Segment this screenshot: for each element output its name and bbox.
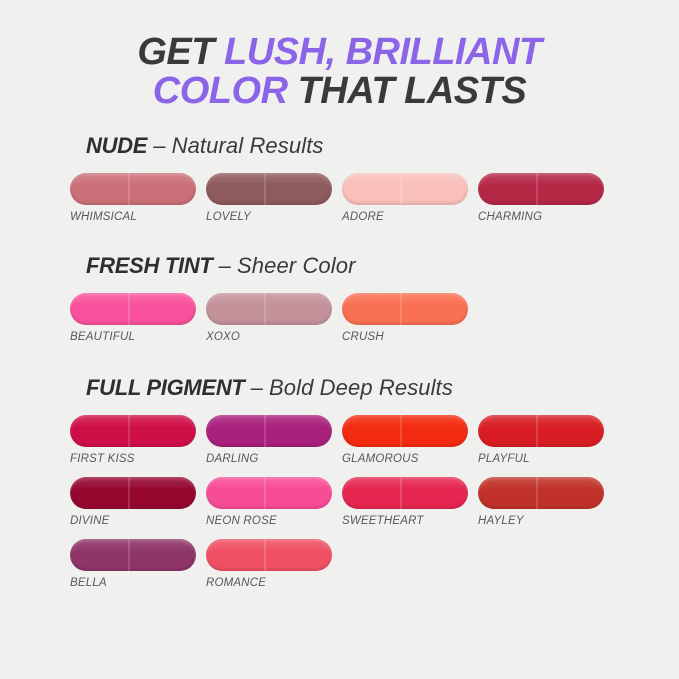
swatch-cell-neon-rose[interactable]: NEON ROSE [206,477,342,527]
swatch-label-crush: CRUSH [342,331,478,343]
swatch-cell-first-kiss[interactable]: FIRST KISS [70,415,206,465]
section-subtitle-full-pigment: Bold Deep Results [269,375,453,400]
headline-lush-brilliant-text: LUSH, BRILLIANT [224,31,542,73]
section-gap-2 [70,355,619,375]
swatch-bella[interactable] [70,539,196,571]
swatch-label-xoxo: XOXO [206,331,342,343]
swatch-cell-whimsical[interactable]: WHIMSICAL [70,173,206,223]
section-full-pigment: FULL PIGMENT – Bold Deep Results FIRST K… [70,375,619,601]
swatch-cell-sweetheart[interactable]: SWEETHEART [342,477,478,527]
swatch-label-first-kiss: FIRST KISS [70,453,206,465]
swatch-label-glamorous: GLAMOROUS [342,453,478,465]
swatch-label-lovely: LOVELY [206,211,342,223]
swatch-row-fresh-tint: BEAUTIFUL XOXO CRUSH [70,293,619,355]
section-nude: NUDE – Natural Results WHIMSICAL LOVELY … [70,133,619,235]
section-title-nude: NUDE – Natural Results [86,133,619,159]
swatch-cell-bella[interactable]: BELLA [70,539,206,589]
swatch-row-full-pigment: FIRST KISS DARLING GLAMOROUS PLAYFUL DIV… [70,415,619,601]
lipstick-shade-chart: GET LUSH, BRILLIANT COLOR THAT LASTS NUD… [0,0,679,679]
page-headline: GET LUSH, BRILLIANT COLOR THAT LASTS [0,0,679,111]
headline-get-text: GET [137,31,224,73]
swatch-crush[interactable] [342,293,468,325]
section-name-fresh-tint: FRESH TINT [86,253,213,278]
swatch-label-darling: DARLING [206,453,342,465]
swatch-row-nude: WHIMSICAL LOVELY ADORE CHARMING [70,173,619,235]
swatch-darling[interactable] [206,415,332,447]
shade-sections: NUDE – Natural Results WHIMSICAL LOVELY … [0,133,679,601]
swatch-neon-rose[interactable] [206,477,332,509]
swatch-adore[interactable] [342,173,468,205]
swatch-whimsical[interactable] [70,173,196,205]
swatch-cell-playful[interactable]: PLAYFUL [478,415,614,465]
swatch-cell-glamorous[interactable]: GLAMOROUS [342,415,478,465]
swatch-label-romance: ROMANCE [206,577,342,589]
swatch-hayley[interactable] [478,477,604,509]
section-dash-nude: – [147,133,171,158]
swatch-label-playful: PLAYFUL [478,453,614,465]
swatch-playful[interactable] [478,415,604,447]
swatch-label-adore: ADORE [342,211,478,223]
swatch-label-neon-rose: NEON ROSE [206,515,342,527]
section-dash-full-pigment: – [245,375,269,400]
section-dash-fresh-tint: – [213,253,237,278]
swatch-first-kiss[interactable] [70,415,196,447]
swatch-label-whimsical: WHIMSICAL [70,211,206,223]
swatch-charming[interactable] [478,173,604,205]
swatch-cell-adore[interactable]: ADORE [342,173,478,223]
headline-color-text: COLOR [153,70,298,112]
swatch-lovely[interactable] [206,173,332,205]
swatch-label-divine: DIVINE [70,515,206,527]
section-title-full-pigment: FULL PIGMENT – Bold Deep Results [86,375,619,401]
section-fresh-tint: FRESH TINT – Sheer Color BEAUTIFUL XOXO … [70,253,619,355]
swatch-romance[interactable] [206,539,332,571]
swatch-cell-beautiful[interactable]: BEAUTIFUL [70,293,206,343]
swatch-cell-divine[interactable]: DIVINE [70,477,206,527]
swatch-label-beautiful: BEAUTIFUL [70,331,206,343]
swatch-cell-lovely[interactable]: LOVELY [206,173,342,223]
swatch-label-sweetheart: SWEETHEART [342,515,478,527]
section-gap-1 [70,235,619,253]
swatch-label-bella: BELLA [70,577,206,589]
swatch-glamorous[interactable] [342,415,468,447]
swatch-cell-xoxo[interactable]: XOXO [206,293,342,343]
section-title-fresh-tint: FRESH TINT – Sheer Color [86,253,619,279]
section-name-nude: NUDE [86,133,147,158]
swatch-sweetheart[interactable] [342,477,468,509]
section-name-full-pigment: FULL PIGMENT [86,375,245,400]
section-subtitle-fresh-tint: Sheer Color [237,253,356,278]
swatch-beautiful[interactable] [70,293,196,325]
swatch-divine[interactable] [70,477,196,509]
swatch-xoxo[interactable] [206,293,332,325]
headline-line-1: GET LUSH, BRILLIANT [0,33,679,72]
swatch-cell-romance[interactable]: ROMANCE [206,539,342,589]
swatch-cell-darling[interactable]: DARLING [206,415,342,465]
swatch-cell-crush[interactable]: CRUSH [342,293,478,343]
swatch-label-charming: CHARMING [478,211,614,223]
section-subtitle-nude: Natural Results [172,133,324,158]
swatch-cell-hayley[interactable]: HAYLEY [478,477,614,527]
headline-that-lasts-text: THAT LASTS [298,70,527,112]
swatch-label-hayley: HAYLEY [478,515,614,527]
headline-line-2: COLOR THAT LASTS [0,72,679,111]
swatch-cell-charming[interactable]: CHARMING [478,173,614,223]
